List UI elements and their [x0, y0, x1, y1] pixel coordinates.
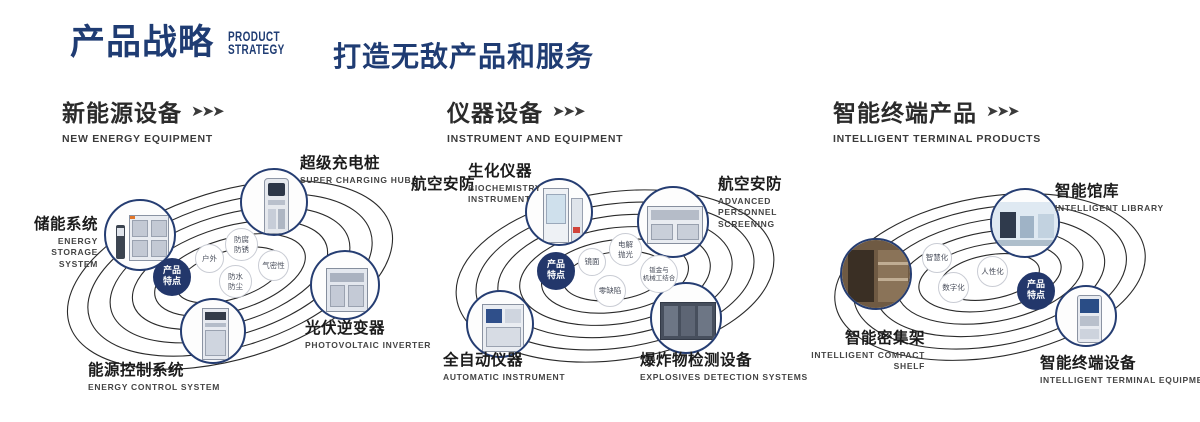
feature-bubble-anticorrosion[interactable]: 防腐 防锈 [225, 228, 258, 261]
core-label-line1: 产品 [1027, 280, 1045, 291]
node-label-en: INTELLIGENT LIBRARY [1055, 203, 1164, 214]
node-label-en: ENERGY STORAGE SYSTEM [10, 236, 98, 270]
node-label-aviation-security-left: 航空安防 [411, 176, 475, 194]
node-label-cn: 储能系统 [10, 216, 98, 234]
node-label-cn: 生化仪器 [468, 163, 542, 181]
section-title-intelligent-terminal: 智能终端产品 ➤➤➤ INTELLIGENT TERMINAL PRODUCTS [833, 94, 1041, 145]
node-label-en: SUPER CHARGING HUB [300, 175, 411, 186]
node-label-cn: 智能馆库 [1055, 183, 1164, 201]
section-title-cn: 新能源设备 ➤➤➤ [62, 94, 223, 128]
core-bubble-product-features[interactable]: 产品 特点 [537, 252, 575, 290]
node-label-photovoltaic-inverter: 光伏逆变器 PHOTOVOLTAIC INVERTER [305, 320, 431, 351]
node-label-cn: 超级充电桩 [300, 155, 411, 173]
charging-pile-icon [242, 170, 306, 234]
node-label-en: BIOCHEMISTRY INSTRUMENT [468, 183, 542, 206]
node-label-charging-hub: 超级充电桩 SUPER CHARGING HUB [300, 155, 411, 186]
feature-bubble-outdoor[interactable]: 户外 [195, 244, 224, 273]
node-label-en: EXPLOSIVES DETECTION SYSTEMS [640, 372, 808, 383]
core-bubble-product-features[interactable]: 产品 特点 [1017, 272, 1055, 310]
feature-bubble-mirror[interactable]: 镜面 [578, 248, 606, 276]
screening-machine-icon [639, 188, 707, 256]
node-label-cn: 智能密集架 [795, 330, 925, 348]
inverter-icon [312, 252, 378, 318]
product-node-photovoltaic-inverter[interactable] [310, 250, 380, 320]
page-title: 产品战略 [70, 26, 214, 61]
section-title-new-energy: 新能源设备 ➤➤➤ NEW ENERGY EQUIPMENT [62, 94, 223, 145]
node-label-cn: 全自动仪器 [443, 352, 565, 370]
compact-shelf-icon [842, 240, 910, 308]
section-title-en: NEW ENERGY EQUIPMENT [62, 133, 223, 145]
feature-bubble-sheetmetal-machining[interactable]: 钣金与 机械工结合 [640, 255, 678, 293]
chevron-right-icon: ➤➤➤ [552, 104, 584, 119]
node-label-energy-control-system: 能源控制系统 ENERGY CONTROL SYSTEM [88, 362, 220, 393]
node-label-en: INTELLIGENT COMPACT SHELF [795, 350, 925, 373]
product-node-intelligent-library[interactable] [990, 188, 1060, 258]
feature-bubble-waterproof[interactable]: 防水 防尘 [219, 265, 252, 298]
core-label-line2: 特点 [163, 277, 181, 288]
node-label-en: INTELLIGENT TERMINAL EQUIPMENT [1040, 375, 1200, 386]
node-label-en: ENERGY CONTROL SYSTEM [88, 382, 220, 393]
node-label-energy-storage: 储能系统 ENERGY STORAGE SYSTEM [10, 216, 98, 270]
core-label-line1: 产品 [163, 266, 181, 277]
node-label-cn: 航空安防 [718, 176, 814, 194]
section-title-text: 仪器设备 [447, 94, 543, 128]
chevron-right-icon: ➤➤➤ [191, 104, 223, 119]
node-label-intelligent-library: 智能馆库 INTELLIGENT LIBRARY [1055, 183, 1164, 214]
section-title-en: INTELLIGENT TERMINAL PRODUCTS [833, 133, 1041, 145]
node-label-cn: 航空安防 [411, 176, 475, 194]
core-bubble-product-features[interactable]: 产品 特点 [153, 258, 191, 296]
node-label-cn: 光伏逆变器 [305, 320, 431, 338]
section-title-instrument: 仪器设备 ➤➤➤ INSTRUMENT AND EQUIPMENT [447, 94, 623, 145]
page-title-en-line2: STRATEGY [228, 44, 285, 57]
node-label-cn: 能源控制系统 [88, 362, 220, 380]
page-header: 产品战略 PRODUCT STRATEGY [70, 26, 305, 61]
automatic-instrument-icon [468, 292, 532, 356]
feature-bubble-smart[interactable]: 智慧化 [922, 243, 952, 273]
terminal-kiosk-icon [1057, 287, 1115, 345]
core-label-line1: 产品 [547, 260, 565, 271]
node-label-automatic-instrument: 全自动仪器 AUTOMATIC INSTRUMENT [443, 352, 565, 383]
page-title-en: PRODUCT STRATEGY [228, 31, 285, 61]
feature-bubble-zero-defect[interactable]: 零缺陷 [594, 275, 626, 307]
section-title-en: INSTRUMENT AND EQUIPMENT [447, 133, 623, 145]
section-title-text: 智能终端产品 [833, 94, 977, 128]
node-label-terminal-equipment: 智能终端设备 INTELLIGENT TERMINAL EQUIPMENT [1040, 355, 1200, 386]
feature-bubble-airtight[interactable]: 气密性 [258, 250, 289, 281]
feature-bubble-digital[interactable]: 数字化 [938, 272, 969, 303]
product-node-screening-machine[interactable] [637, 186, 709, 258]
feature-bubble-electropolishing[interactable]: 电解 抛光 [609, 233, 642, 266]
product-node-charging-hub[interactable] [240, 168, 308, 236]
feature-bubble-humanized[interactable]: 人性化 [977, 256, 1008, 287]
node-label-explosives-detection: 爆炸物检测设备 EXPLOSIVES DETECTION SYSTEMS [640, 352, 808, 383]
library-icon [992, 190, 1058, 256]
chevron-right-icon: ➤➤➤ [986, 104, 1018, 119]
core-label-line2: 特点 [547, 271, 565, 282]
section-title-text: 新能源设备 [62, 94, 182, 128]
node-label-en: AUTOMATIC INSTRUMENT [443, 372, 565, 383]
product-strategy-infographic: 产品战略 PRODUCT STRATEGY 打造无敌产品和服务 新能源设备 ➤➤… [0, 0, 1200, 422]
node-label-cn: 智能终端设备 [1040, 355, 1200, 373]
product-node-terminal-kiosk[interactable] [1055, 285, 1117, 347]
node-label-compact-shelf: 智能密集架 INTELLIGENT COMPACT SHELF [795, 330, 925, 373]
node-label-advanced-personnel-screening: 航空安防 ADVANCED PERSONNEL SCREENING [718, 176, 814, 230]
core-label-line2: 特点 [1027, 291, 1045, 302]
node-label-en: ADVANCED PERSONNEL SCREENING [718, 196, 814, 230]
product-node-compact-shelf[interactable] [840, 238, 912, 310]
product-node-automatic-instrument[interactable] [466, 290, 534, 358]
section-title-cn: 智能终端产品 ➤➤➤ [833, 94, 1041, 128]
node-label-cn: 爆炸物检测设备 [640, 352, 808, 370]
page-subtitle: 打造无敌产品和服务 [333, 35, 594, 75]
explosives-detector-icon [652, 284, 720, 352]
control-cabinet-icon [182, 300, 244, 362]
product-node-energy-control-system[interactable] [180, 298, 246, 364]
node-label-en: PHOTOVOLTAIC INVERTER [305, 340, 431, 351]
node-label-biochemistry-instrument: 生化仪器 BIOCHEMISTRY INSTRUMENT [468, 163, 542, 206]
section-title-cn: 仪器设备 ➤➤➤ [447, 94, 623, 128]
